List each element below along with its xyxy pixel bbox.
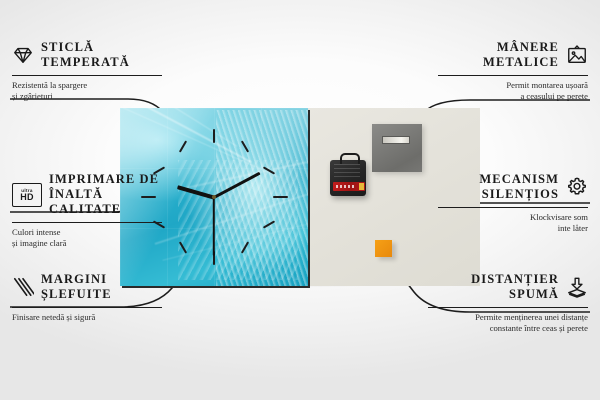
callout-rule (428, 307, 588, 308)
clock-tick (273, 196, 288, 198)
callout-subtitle-line2: și imagine clară (12, 238, 162, 249)
clock-tick (213, 129, 215, 143)
callout-rule (12, 307, 162, 308)
callout-subtitle-line2: constante între ceas și perete (428, 323, 588, 334)
callout-title-line2: SILENȚIOS (479, 187, 559, 202)
callout-mecanism-silentios: MECANISM SILENȚIOS Klockvisare som inte … (438, 172, 588, 234)
callout-subtitle-line1: Klockvisare som (438, 212, 588, 223)
callout-title-line2: ȘLEFUITE (41, 287, 112, 302)
metal-hanger-plate (372, 124, 422, 172)
callout-subtitle-line1: Culori intense (12, 227, 162, 238)
beveled-edges-icon (12, 276, 34, 298)
callout-title-line1: MECANISM (479, 172, 559, 187)
diamond-icon (12, 44, 34, 66)
callout-title-line2: SPUMĂ (471, 287, 559, 302)
callout-title-line1: DISTANȚIER (471, 272, 559, 287)
callout-sticla-temperata: STICLĂ TEMPERATĂ Rezistentă la spargere … (12, 40, 162, 102)
callout-distantier-spuma: DISTANȚIER SPUMĂ Permite menținerea unei… (428, 272, 588, 334)
callout-title-line2: METALICE (483, 55, 559, 70)
callout-title-line2: TEMPERATĂ (41, 55, 130, 70)
gear-icon (566, 176, 588, 198)
callout-title-line1: MARGINI (41, 272, 112, 287)
ultra-hd-icon: ultra HD (12, 183, 42, 207)
callout-title-line1: IMPRIMARE DE (49, 172, 162, 187)
battery (333, 182, 365, 191)
mechanism-handle (340, 153, 360, 164)
callout-subtitle-line1: Finisare netedă și sigură (12, 312, 162, 323)
foam-spacer (375, 240, 392, 257)
mechanism-detail (334, 164, 360, 179)
battery-label (336, 185, 356, 188)
callout-title-line2: ÎNALTĂ CALITATE (49, 187, 162, 217)
clock-mechanism (330, 160, 366, 196)
callout-rule (12, 75, 162, 76)
callout-rule (438, 207, 588, 208)
ultra-hd-label-bottom: HD (20, 193, 33, 202)
infographic-canvas: STICLĂ TEMPERATĂ Rezistentă la spargere … (0, 0, 600, 400)
callout-title-line1: MÂNERE (483, 40, 559, 55)
callout-subtitle-line2: și zgârieturi (12, 91, 162, 102)
second-hand (213, 198, 215, 256)
callout-manere-metalice: MÂNERE METALICE Permit montarea ușoară a… (438, 40, 588, 102)
callout-rule (12, 222, 162, 223)
callout-subtitle-line2: inte låter (438, 223, 588, 234)
callout-subtitle-line1: Permite menținerea unei distanțe (428, 312, 588, 323)
callout-imprimare-calitate: ultra HD IMPRIMARE DE ÎNALTĂ CALITATE Cu… (12, 172, 162, 249)
callout-subtitle-line1: Permit montarea ușoară (438, 80, 588, 91)
spacer-down-arrow-icon (566, 276, 588, 298)
battery-terminal (359, 183, 364, 190)
callout-subtitle-line1: Rezistentă la spargere (12, 80, 162, 91)
callout-margini-slefuite: MARGINI ȘLEFUITE Finisare netedă și sigu… (12, 272, 162, 323)
clock-center-pin (212, 195, 216, 199)
callout-title-line1: STICLĂ (41, 40, 130, 55)
hanger-slot (382, 136, 410, 144)
picture-hanger-icon (566, 44, 588, 66)
product-photo (120, 108, 480, 286)
callout-rule (438, 75, 588, 76)
callout-subtitle-line2: a ceasului pe perete (438, 91, 588, 102)
